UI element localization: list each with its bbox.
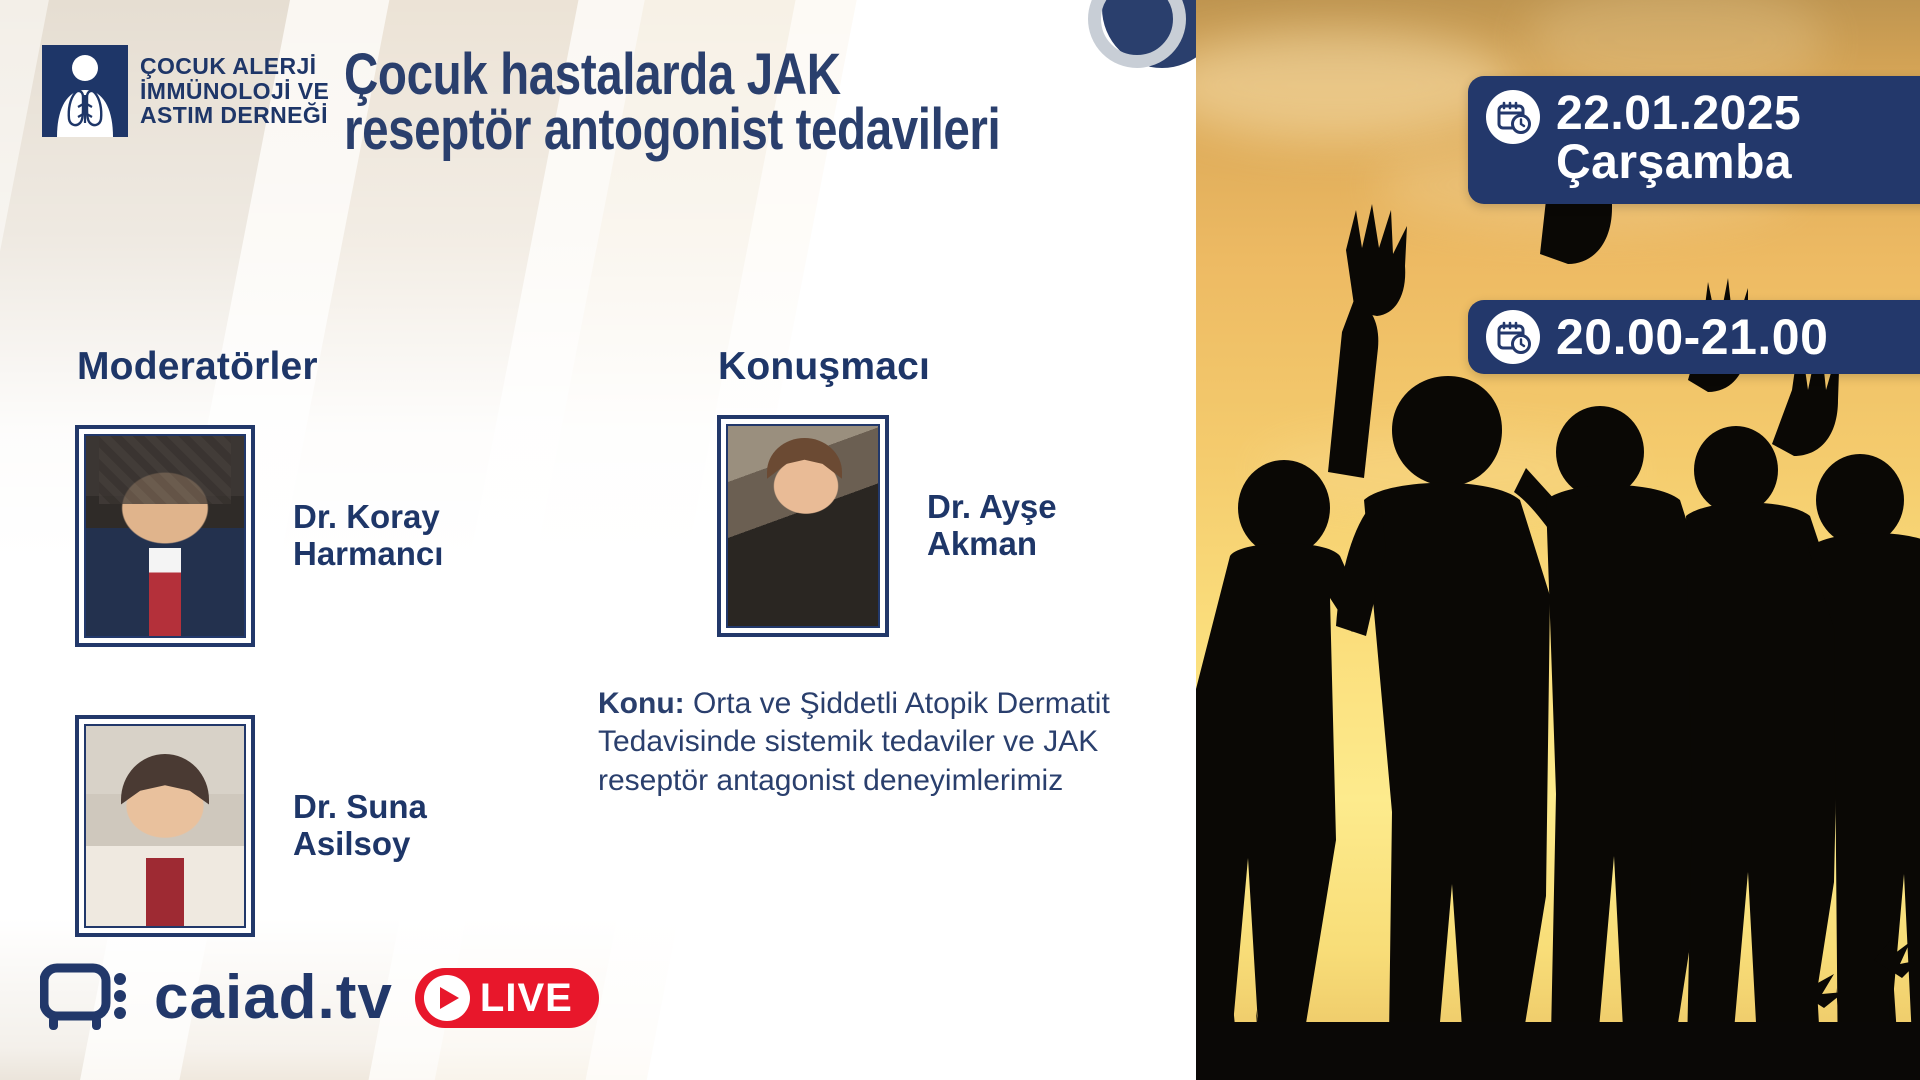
page-title: Çocuk hastalarda JAK reseptör antogonist… <box>344 48 1025 157</box>
live-badge[interactable]: LIVE <box>415 968 599 1028</box>
speaker-heading: Konuşmacı <box>718 345 930 389</box>
calendar-clock-icon <box>1486 310 1540 364</box>
tv-icon <box>40 962 132 1034</box>
organization-logo: ÇOCUK ALERJİ İMMÜNOLOJİ VE ASTIM DERNEĞİ <box>42 45 329 137</box>
live-label: LIVE <box>480 978 573 1018</box>
organization-name: ÇOCUK ALERJİ İMMÜNOLOJİ VE ASTIM DERNEĞİ <box>140 54 329 127</box>
portrait-photo <box>728 426 878 626</box>
photo-frame-inner <box>726 424 880 628</box>
logo-line-3: ASTIM DERNEĞİ <box>140 103 329 127</box>
photo-frame <box>75 425 255 647</box>
logo-line-2: İMMÜNOLOJİ VE <box>140 79 329 103</box>
calendar-clock-icon <box>1486 90 1540 144</box>
topic-block: Konu: Orta ve Şiddetli Atopik Dermatit T… <box>598 685 1198 800</box>
time-badge-lines: 20.00-21.00 <box>1556 312 1828 363</box>
speaker-card-ayse-akman: Dr. Ayşe Akman <box>717 415 1057 637</box>
event-day: Çarşamba <box>1556 139 1801 188</box>
topic-label: Konu: <box>598 687 685 720</box>
portrait-photo <box>86 436 244 636</box>
date-badge: 22.01.2025 Çarşamba <box>1468 76 1920 204</box>
event-time: 20.00-21.00 <box>1556 312 1828 363</box>
photo-frame-inner <box>84 724 246 928</box>
moderator-card-suna-asilsoy: Dr. Suna Asilsoy <box>75 715 427 937</box>
photo-frame <box>717 415 889 637</box>
moderator-card-koray-harmanci: Dr. Koray Harmancı <box>75 425 443 647</box>
ground <box>1196 1022 1920 1080</box>
logo-line-1: ÇOCUK ALERJİ <box>140 54 329 78</box>
brand-name[interactable]: caiad.tv <box>154 967 393 1029</box>
footer-bar: caiad.tv LIVE <box>40 962 599 1034</box>
webinar-poster: ÇOCUK ALERJİ İMMÜNOLOJİ VE ASTIM DERNEĞİ… <box>0 0 1920 1080</box>
date-badge-lines: 22.01.2025 Çarşamba <box>1556 90 1801 188</box>
portrait-photo <box>86 726 244 926</box>
moderators-heading: Moderatörler <box>77 345 318 389</box>
lungs-person-icon <box>42 45 128 137</box>
event-date: 22.01.2025 <box>1556 90 1801 139</box>
photo-frame-inner <box>84 434 246 638</box>
time-badge: 20.00-21.00 <box>1468 300 1920 374</box>
moderator-name: Dr. Suna Asilsoy <box>293 789 427 863</box>
play-icon <box>424 975 470 1021</box>
speaker-name: Dr. Ayşe Akman <box>927 489 1057 563</box>
photo-frame <box>75 715 255 937</box>
moderator-name: Dr. Koray Harmancı <box>293 499 443 573</box>
